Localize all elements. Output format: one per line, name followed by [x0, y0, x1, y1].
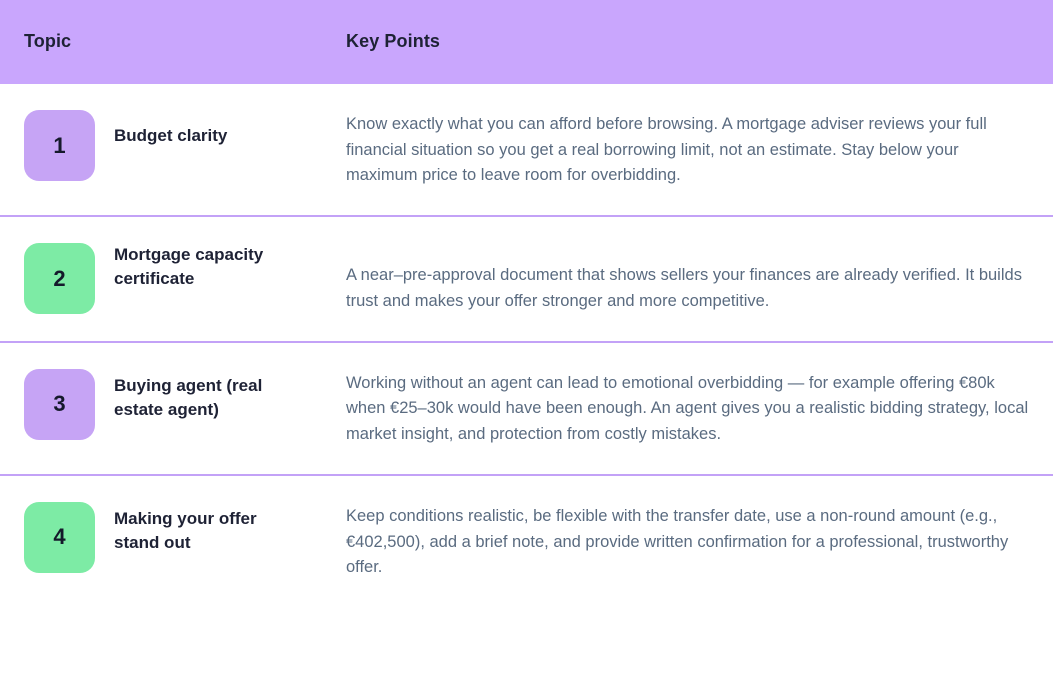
- topic-label: Buying agent (real estate agent): [114, 369, 274, 422]
- topic-label: Making your offer stand out: [114, 502, 274, 555]
- row-number-badge: 1: [24, 110, 95, 181]
- key-points-table: Topic Key Points 1 Budget clarity Know e…: [0, 0, 1053, 607]
- topic-cell: 2 Mortgage capacity certificate: [0, 243, 346, 314]
- topic-label: Mortgage capacity certificate: [114, 243, 274, 291]
- row-number-badge: 3: [24, 369, 95, 440]
- topic-cell: 3 Buying agent (real estate agent): [0, 369, 346, 440]
- table-header-row: Topic Key Points: [0, 0, 1053, 84]
- column-header-key-points: Key Points: [346, 31, 1053, 53]
- topic-cell: 4 Making your offer stand out: [0, 502, 346, 573]
- column-header-topic: Topic: [0, 31, 346, 53]
- row-number-badge: 2: [24, 243, 95, 314]
- row-number-badge: 4: [24, 502, 95, 573]
- key-points-cell: Keep conditions realistic, be flexible w…: [346, 502, 1053, 581]
- topic-cell: 1 Budget clarity: [0, 110, 346, 181]
- table-row: 2 Mortgage capacity certificate A near–p…: [0, 217, 1053, 342]
- table-row: 1 Budget clarity Know exactly what you c…: [0, 84, 1053, 217]
- table-row: 4 Making your offer stand out Keep condi…: [0, 476, 1053, 607]
- key-points-cell: A near–pre-approval document that shows …: [346, 243, 1053, 314]
- key-points-cell: Know exactly what you can afford before …: [346, 110, 1053, 189]
- table-row: 3 Buying agent (real estate agent) Worki…: [0, 343, 1053, 476]
- key-points-cell: Working without an agent can lead to emo…: [346, 369, 1053, 448]
- topic-label: Budget clarity: [114, 110, 274, 148]
